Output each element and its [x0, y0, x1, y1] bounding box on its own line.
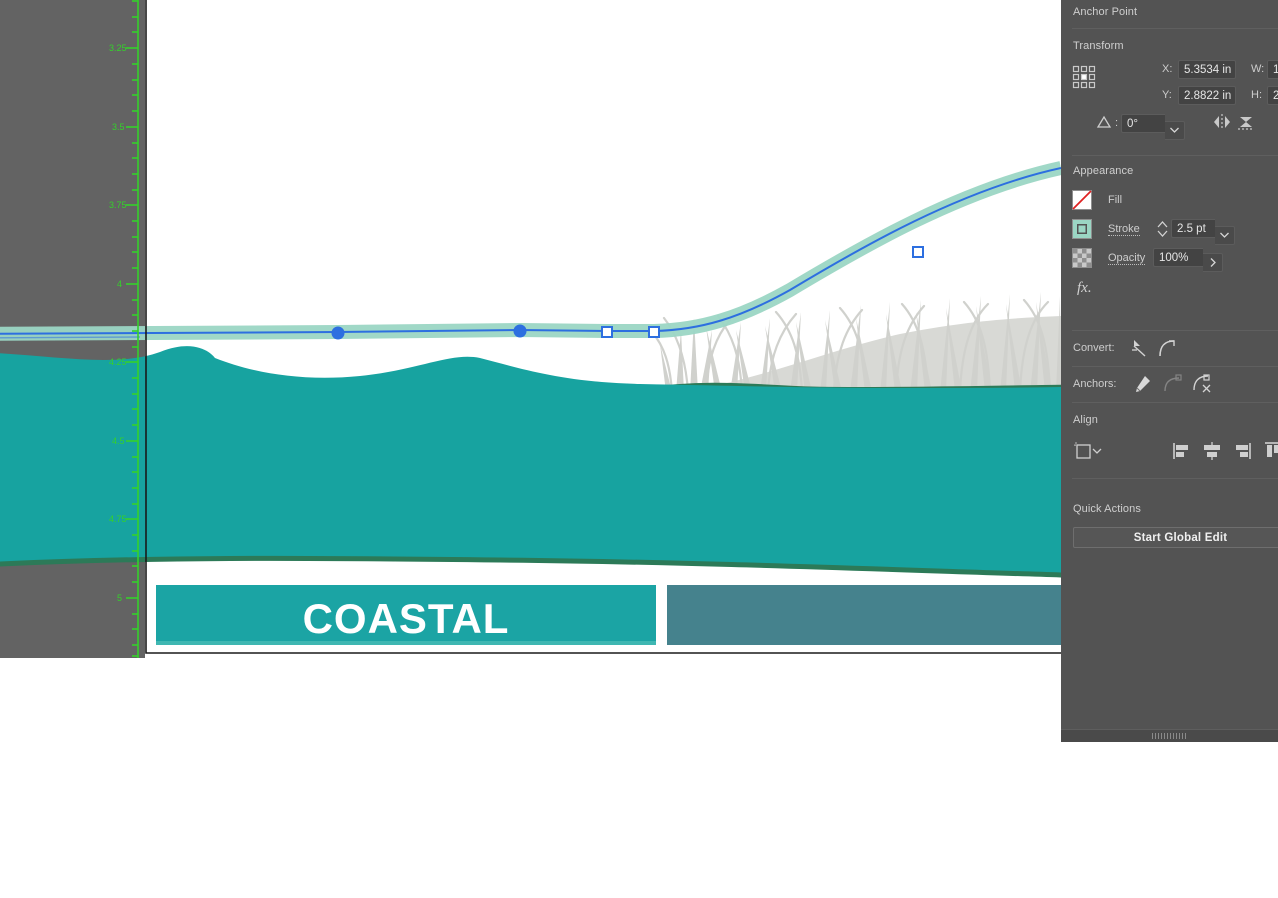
ruler-label: 4: [117, 279, 122, 289]
ruler-label: 3.75: [109, 200, 127, 210]
divider: [1072, 330, 1278, 331]
anchor-selected-2: [514, 325, 527, 338]
panel-grip-icon[interactable]: [1152, 733, 1188, 739]
ruler-label: 4.5: [112, 436, 125, 446]
properties-panel-body: Anchor Point Transform X: 5.3: [1061, 0, 1278, 741]
anchor-unselected-1: [602, 327, 612, 337]
properties-panel: Anchor Point Transform X: 5.3: [1061, 0, 1278, 898]
h-label: H:: [1251, 89, 1262, 101]
divider: [1072, 28, 1278, 29]
w-label: W:: [1251, 63, 1264, 75]
stroke-weight-dropdown[interactable]: [1215, 226, 1235, 245]
hide-handles-icon[interactable]: [1161, 373, 1183, 395]
transform-section-title: Transform: [1073, 40, 1124, 52]
ruler-label: 4.75: [109, 514, 127, 524]
panel-title: Anchor Point: [1073, 6, 1137, 18]
opacity-options-arrow[interactable]: [1203, 253, 1223, 272]
divider: [1072, 155, 1278, 156]
align-section-title: Align: [1073, 414, 1098, 426]
anchor-unselected-2: [649, 327, 659, 337]
divider: [1072, 402, 1278, 403]
opacity-field[interactable]: 100%: [1153, 248, 1223, 272]
angle-icon: [1096, 114, 1112, 130]
angle-field[interactable]: 0°: [1121, 114, 1185, 140]
divider: [1072, 366, 1278, 367]
quick-actions-title: Quick Actions: [1073, 503, 1141, 515]
illustrator-window: COASTAL: [0, 0, 1278, 898]
ruler-label: 5: [117, 593, 122, 603]
stroke-swatch[interactable]: [1072, 219, 1092, 239]
banner-text: COASTAL: [303, 595, 510, 642]
remove-anchor-icon[interactable]: [1191, 373, 1213, 395]
align-right-icon[interactable]: [1231, 440, 1253, 462]
stroke-weight-field[interactable]: 2.5 pt: [1171, 219, 1235, 245]
panel-empty-area: [1061, 741, 1278, 898]
y-label: Y:: [1162, 89, 1172, 101]
panel-header: Anchor Point: [1061, 0, 1278, 27]
appearance-section-title: Appearance: [1073, 165, 1133, 177]
fx-button[interactable]: fx.: [1077, 280, 1092, 297]
stroke-label[interactable]: Stroke: [1108, 223, 1140, 235]
opacity-label[interactable]: Opacity: [1108, 252, 1145, 264]
flip-vertical-icon[interactable]: [1236, 112, 1256, 132]
panel-resize-bar[interactable]: [1061, 729, 1278, 742]
coastal-banner: COASTAL: [156, 585, 1061, 645]
show-handles-icon[interactable]: [1131, 373, 1153, 395]
align-left-icon[interactable]: [1171, 440, 1193, 462]
stroke-weight-stepper[interactable]: [1156, 219, 1169, 239]
convert-to-smooth-icon[interactable]: [1156, 337, 1178, 359]
ruler-label: 3.5: [112, 122, 125, 132]
anchor-selected-1: [332, 327, 345, 340]
convert-label: Convert:: [1073, 342, 1115, 354]
x-field[interactable]: 5.3534 in: [1178, 60, 1236, 82]
flip-horizontal-icon[interactable]: [1212, 112, 1232, 132]
start-global-edit-button[interactable]: Start Global Edit: [1073, 527, 1278, 548]
artwork: COASTAL: [0, 0, 1061, 898]
convert-to-corner-icon[interactable]: [1129, 337, 1151, 359]
fill-swatch[interactable]: [1072, 190, 1092, 210]
anchor-unselected-3: [913, 247, 923, 257]
h-field[interactable]: 2.6115 in: [1267, 86, 1278, 108]
document-canvas[interactable]: COASTAL: [0, 0, 1061, 898]
ruler-label: 4.25: [109, 357, 127, 367]
align-horizontal-center-icon[interactable]: [1201, 440, 1223, 462]
align-to-selection-icon[interactable]: [1072, 440, 1104, 462]
anchors-label: Anchors:: [1073, 378, 1116, 390]
w-field[interactable]: 11.982 in: [1267, 60, 1278, 82]
reference-point-widget[interactable]: [1072, 65, 1096, 89]
x-label: X:: [1162, 63, 1172, 75]
fill-label: Fill: [1108, 194, 1122, 206]
align-top-icon[interactable]: [1262, 440, 1278, 462]
angle-colon: :: [1115, 117, 1118, 129]
y-field[interactable]: 2.8822 in: [1178, 86, 1236, 108]
angle-dropdown[interactable]: [1165, 121, 1185, 140]
opacity-swatch[interactable]: [1072, 248, 1092, 268]
ruler-label: 3.25: [109, 43, 127, 53]
vertical-ruler[interactable]: 3.25 3.5 3.75 4 4.25 4.5 4.75 5: [108, 0, 145, 658]
divider: [1072, 478, 1278, 479]
